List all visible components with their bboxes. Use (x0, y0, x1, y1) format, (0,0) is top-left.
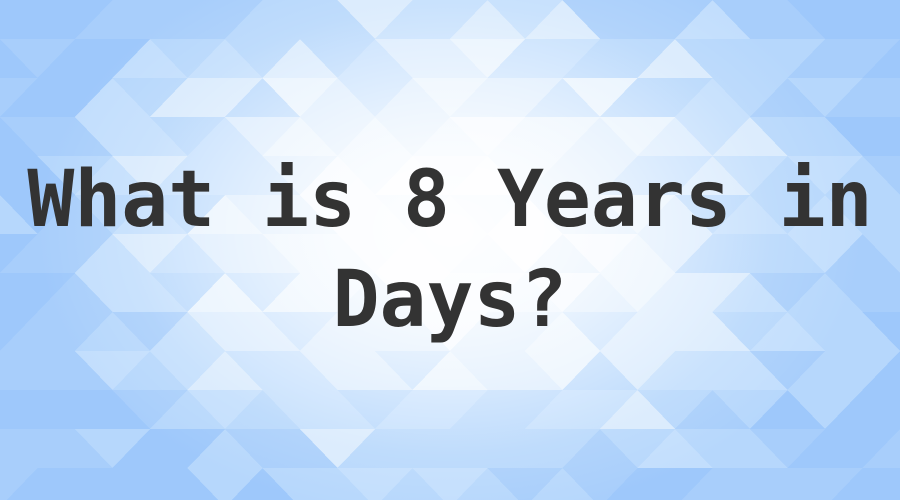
headline-block: What is 8 Years in Days? (0, 0, 900, 500)
headline-line-2: Days? (333, 250, 568, 350)
headline-line-1: What is 8 Years in (27, 150, 872, 250)
hero-banner: What is 8 Years in Days? (0, 0, 900, 500)
